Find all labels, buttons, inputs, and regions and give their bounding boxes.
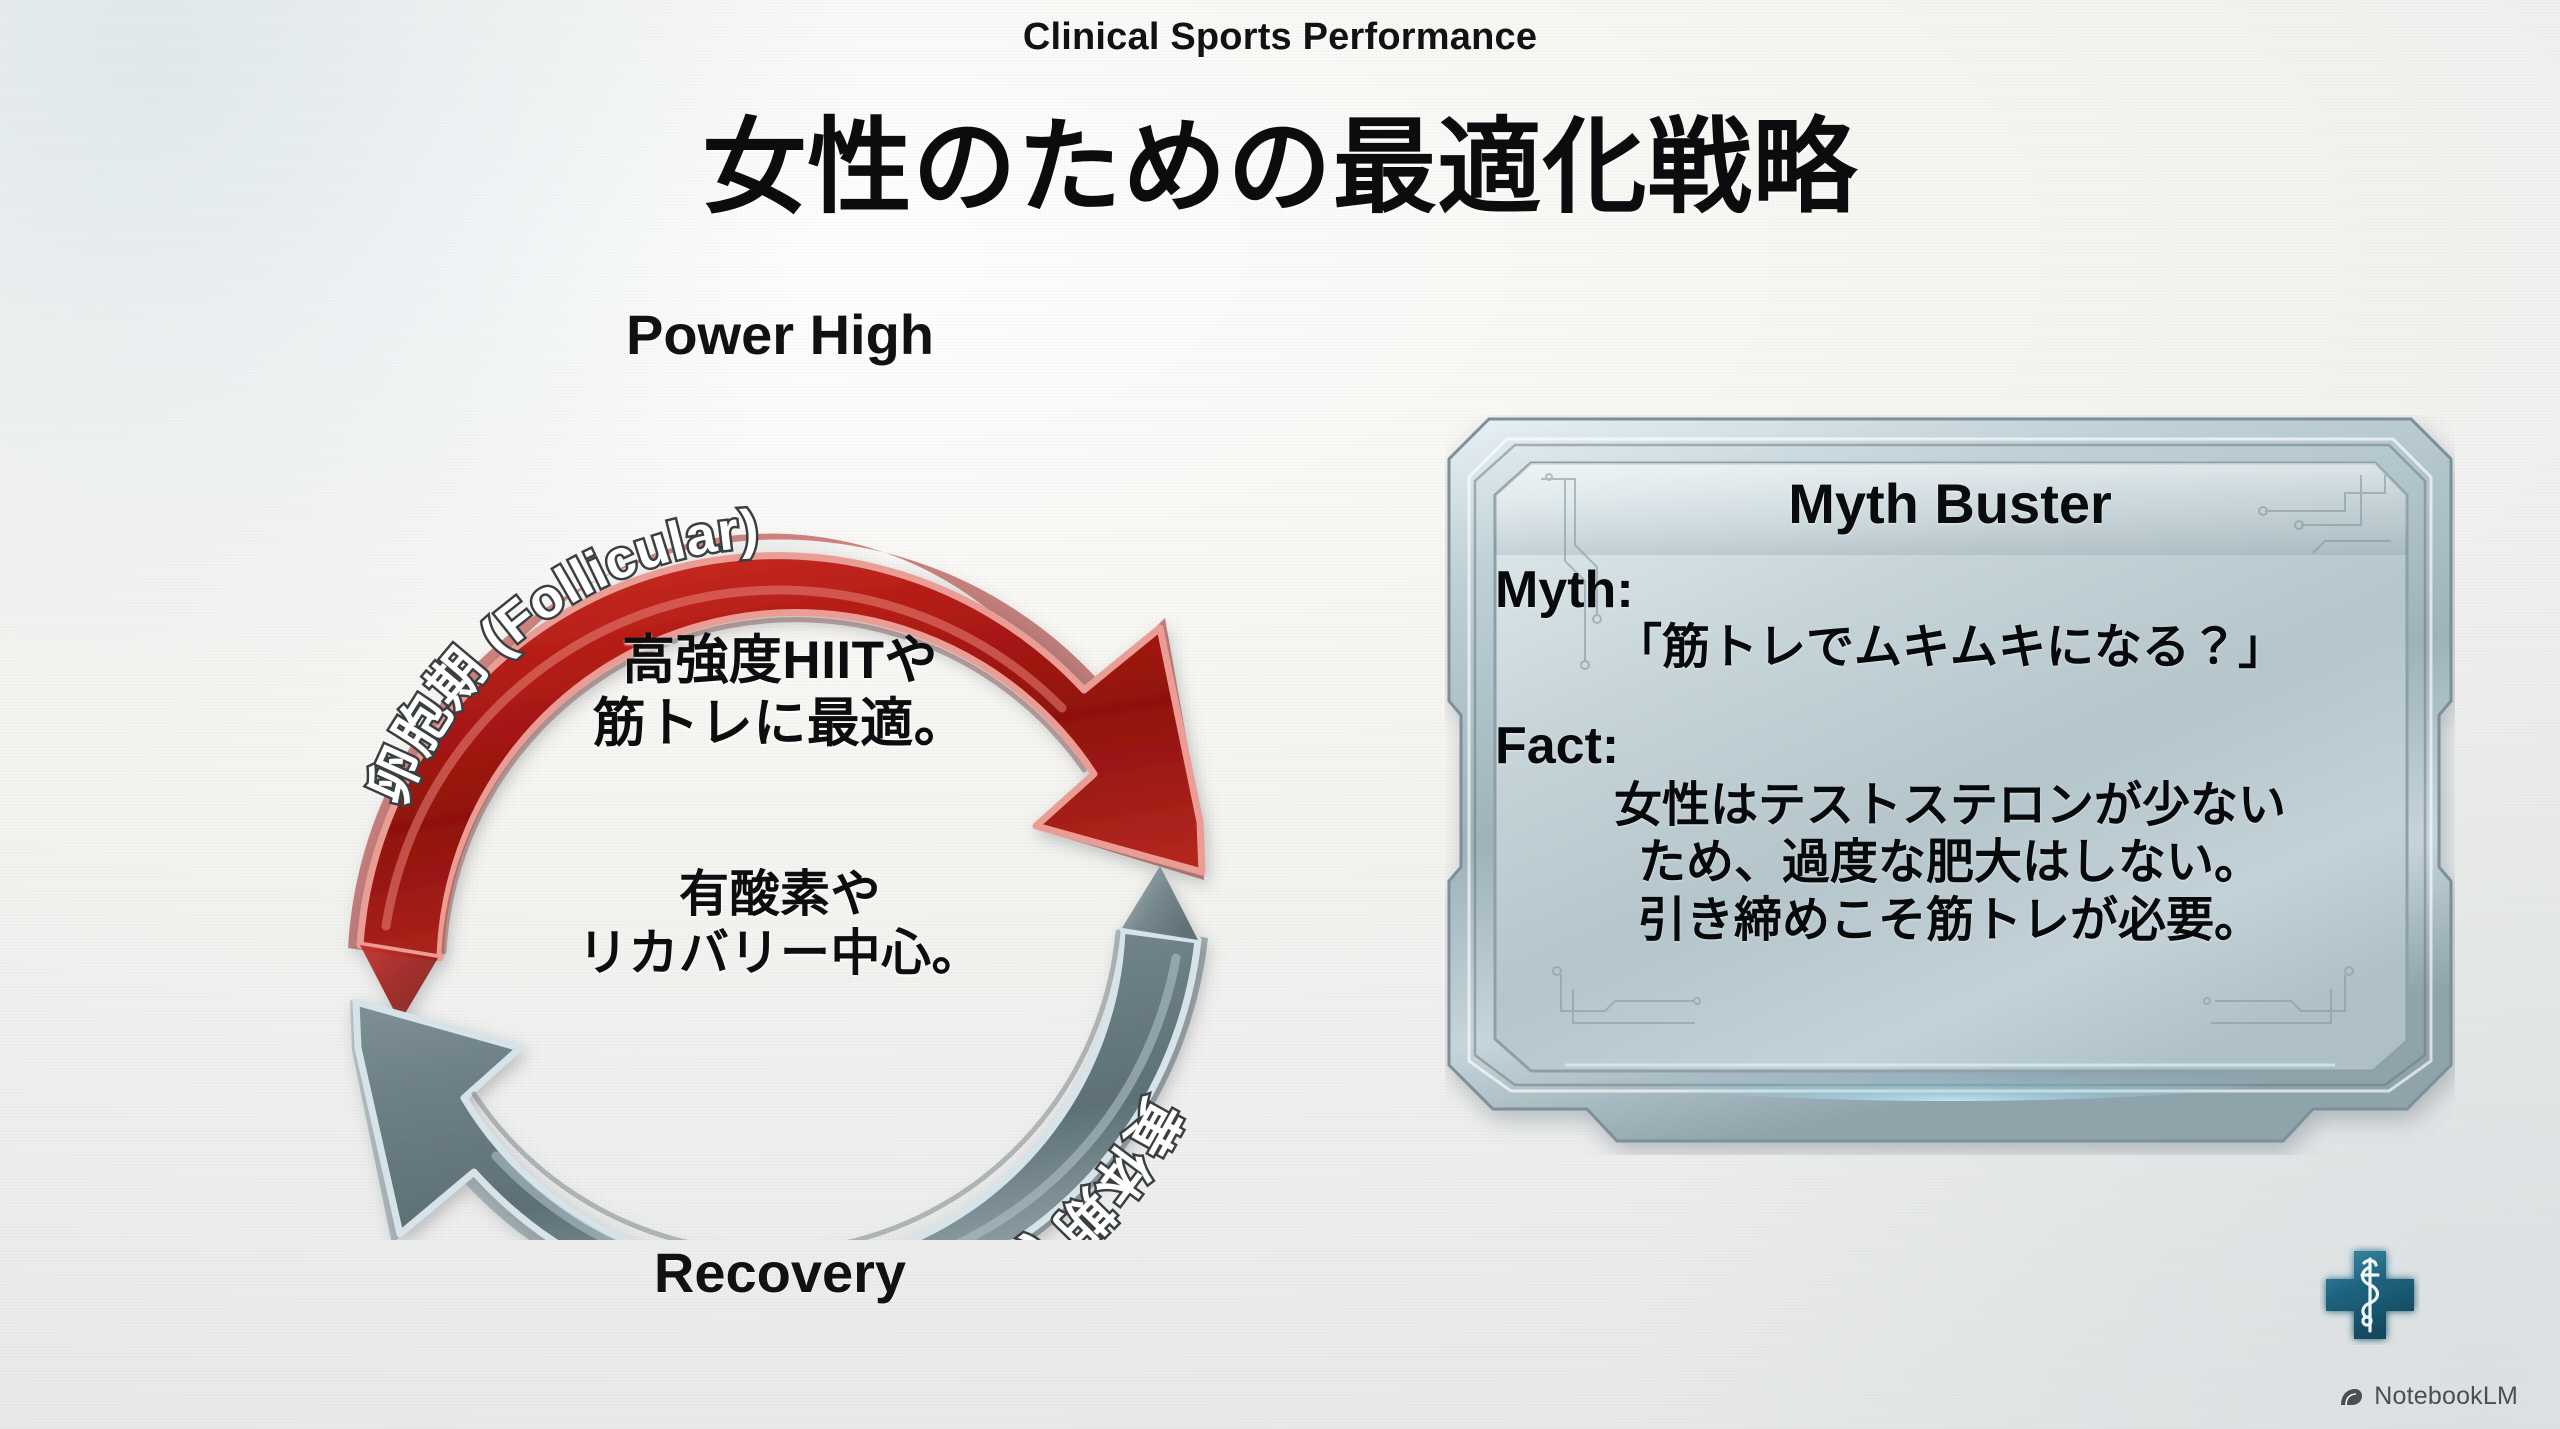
- luteal-inner-line1: 有酸素や: [200, 865, 1360, 924]
- luteal-inner-line2: リカバリー中心。: [200, 924, 1360, 983]
- notebooklm-watermark: NotebookLM: [2338, 1382, 2518, 1411]
- slide-canvas: Clinical Sports Performance 女性のための最適化戦略 …: [0, 0, 2560, 1429]
- luteal-inner-text: 有酸素や リカバリー中心。: [200, 865, 1360, 983]
- follicular-inner-line2: 筋トレに最適。: [200, 693, 1360, 756]
- myth-block: Myth: 「筋トレでムキムキになる？」: [1489, 560, 2411, 676]
- page-title: 女性のための最適化戦略: [0, 82, 2560, 233]
- medical-cross-caduceus-icon: [2320, 1245, 2420, 1345]
- follicular-inner-text: 高強度HIITや 筋トレに最適。: [200, 630, 1360, 755]
- eyebrow-label: Clinical Sports Performance: [0, 16, 2560, 59]
- fact-line-1: 女性はテストステロンが少ない: [1489, 778, 2411, 834]
- fact-line-2: ため、過度な肥大はしない。: [1489, 835, 2411, 891]
- myth-label: Myth:: [1489, 560, 2411, 620]
- follicular-inner-line1: 高強度HIITや: [200, 630, 1360, 693]
- menstrual-cycle-diagram: Power High: [200, 300, 1360, 1370]
- notebooklm-label: NotebookLM: [2374, 1382, 2518, 1411]
- cycle-bottom-caption: Recovery: [200, 1240, 1360, 1305]
- myth-buster-panel: Myth Buster Myth: 「筋トレでムキムキになる？」 Fact: 女…: [1445, 415, 2455, 1155]
- cycle-arrows-svg: 卵胞期 (Follicular) 黄体期 (Luteal): [200, 360, 1360, 1240]
- fact-line-3: 引き締めこそ筋トレが必要。: [1489, 893, 2411, 949]
- fact-block: Fact: 女性はテストステロンが少ない ため、過度な肥大はしない。 引き締めこ…: [1489, 716, 2411, 949]
- fact-label: Fact:: [1489, 716, 2411, 776]
- notebooklm-icon: [2338, 1386, 2364, 1408]
- panel-title: Myth Buster: [1788, 471, 2112, 536]
- cycle-top-caption: Power High: [200, 302, 1360, 367]
- myth-text: 「筋トレでムキムキになる？」: [1489, 620, 2411, 676]
